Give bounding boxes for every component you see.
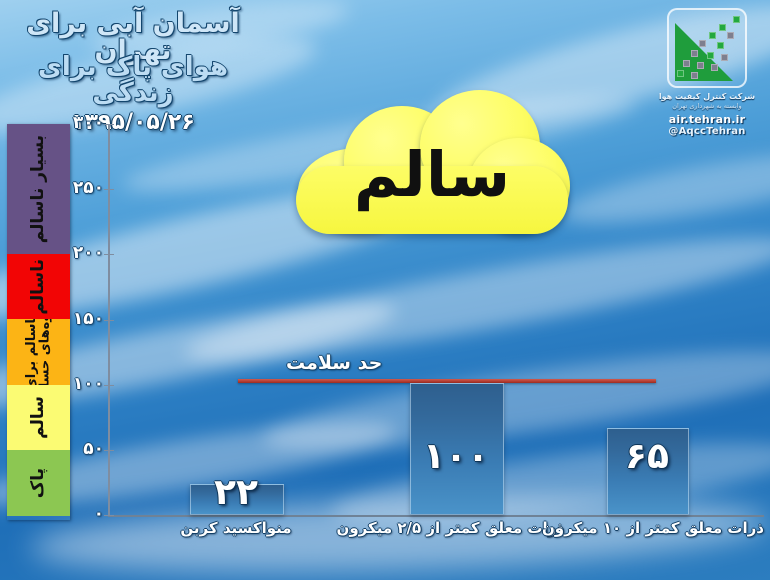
legend-band-label: ناسالم برای گروه‌های حساس bbox=[25, 319, 52, 384]
y-tick-mark bbox=[104, 189, 114, 190]
bar-value-label: ۶۵ bbox=[607, 439, 687, 475]
legend-band-label: بسیار ناسالم bbox=[30, 135, 48, 243]
air-quality-status-label: سالم bbox=[292, 144, 572, 206]
y-tick-mark bbox=[104, 385, 114, 386]
legend-band-3: سالم bbox=[7, 385, 70, 450]
logo-org-sub: وابسته به شهرداری تهران bbox=[652, 102, 762, 110]
legend-band-4: پاک bbox=[7, 450, 70, 516]
bar-category-label: ذرات معلق کمتر از ۱۰ میکرون bbox=[566, 519, 764, 537]
logo-org-name: شرکت کنترل کیفیت هوا bbox=[652, 92, 762, 101]
y-tick-label: ۳۰۰ bbox=[74, 113, 104, 133]
organization-logo-block: شرکت کنترل کیفیت هوا وابسته به شهرداری ت… bbox=[652, 8, 762, 137]
pollutant-bar[interactable]: ۲۲ bbox=[190, 486, 282, 515]
legend-band-label: سالم bbox=[30, 396, 48, 439]
pollutant-bar[interactable]: ۱۰۰ bbox=[410, 385, 502, 515]
y-tick-label: ۰ bbox=[74, 504, 104, 524]
x-axis-line bbox=[108, 515, 764, 517]
header-title-block: آسمان آبی برای تهران هوای پاک برای زندگی… bbox=[8, 4, 258, 135]
bar-category-label: ذرات معلق کمتر از ۲/۵ میکرون bbox=[348, 519, 564, 537]
y-tick-label: ۵۰ bbox=[74, 439, 104, 459]
title-line-2: هوای پاک برای زندگی bbox=[8, 54, 258, 106]
y-tick-mark bbox=[104, 320, 114, 321]
infographic-canvas: آسمان آبی برای تهران هوای پاک برای زندگی… bbox=[0, 0, 770, 580]
legend-band-0: بسیار ناسالم bbox=[7, 124, 70, 254]
bar-value-label: ۲۲ bbox=[190, 475, 282, 511]
health-threshold-label: حد سلامت bbox=[286, 352, 382, 374]
y-tick-label: ۲۰۰ bbox=[74, 243, 104, 263]
y-tick-label: ۱۰۰ bbox=[74, 374, 104, 394]
y-tick-label: ۱۵۰ bbox=[74, 309, 104, 329]
aqcc-logo-icon bbox=[667, 8, 747, 88]
aqi-legend: بسیار ناسالمناسالمناسالم برای گروه‌های ح… bbox=[7, 124, 70, 520]
logo-twitter-handle[interactable]: @AqccTehran bbox=[652, 126, 762, 137]
legend-band-label: پاک bbox=[30, 468, 48, 498]
y-tick-mark bbox=[104, 124, 114, 125]
legend-band-1: ناسالم bbox=[7, 254, 70, 319]
bar-category-label: منواکسید کربن bbox=[150, 519, 322, 537]
legend-band-label: ناسالم bbox=[30, 259, 48, 315]
y-tick-mark bbox=[104, 450, 114, 451]
logo-website[interactable]: air.tehran.ir bbox=[652, 113, 762, 126]
y-tick-mark bbox=[104, 254, 114, 255]
bar-value-label: ۱۰۰ bbox=[410, 439, 502, 475]
y-tick-label: ۲۵۰ bbox=[74, 178, 104, 198]
pollutant-bar[interactable]: ۶۵ bbox=[607, 430, 687, 515]
y-tick-mark bbox=[104, 515, 114, 516]
legend-band-2: ناسالم برای گروه‌های حساس bbox=[7, 319, 70, 384]
status-cloud: سالم bbox=[292, 88, 572, 238]
